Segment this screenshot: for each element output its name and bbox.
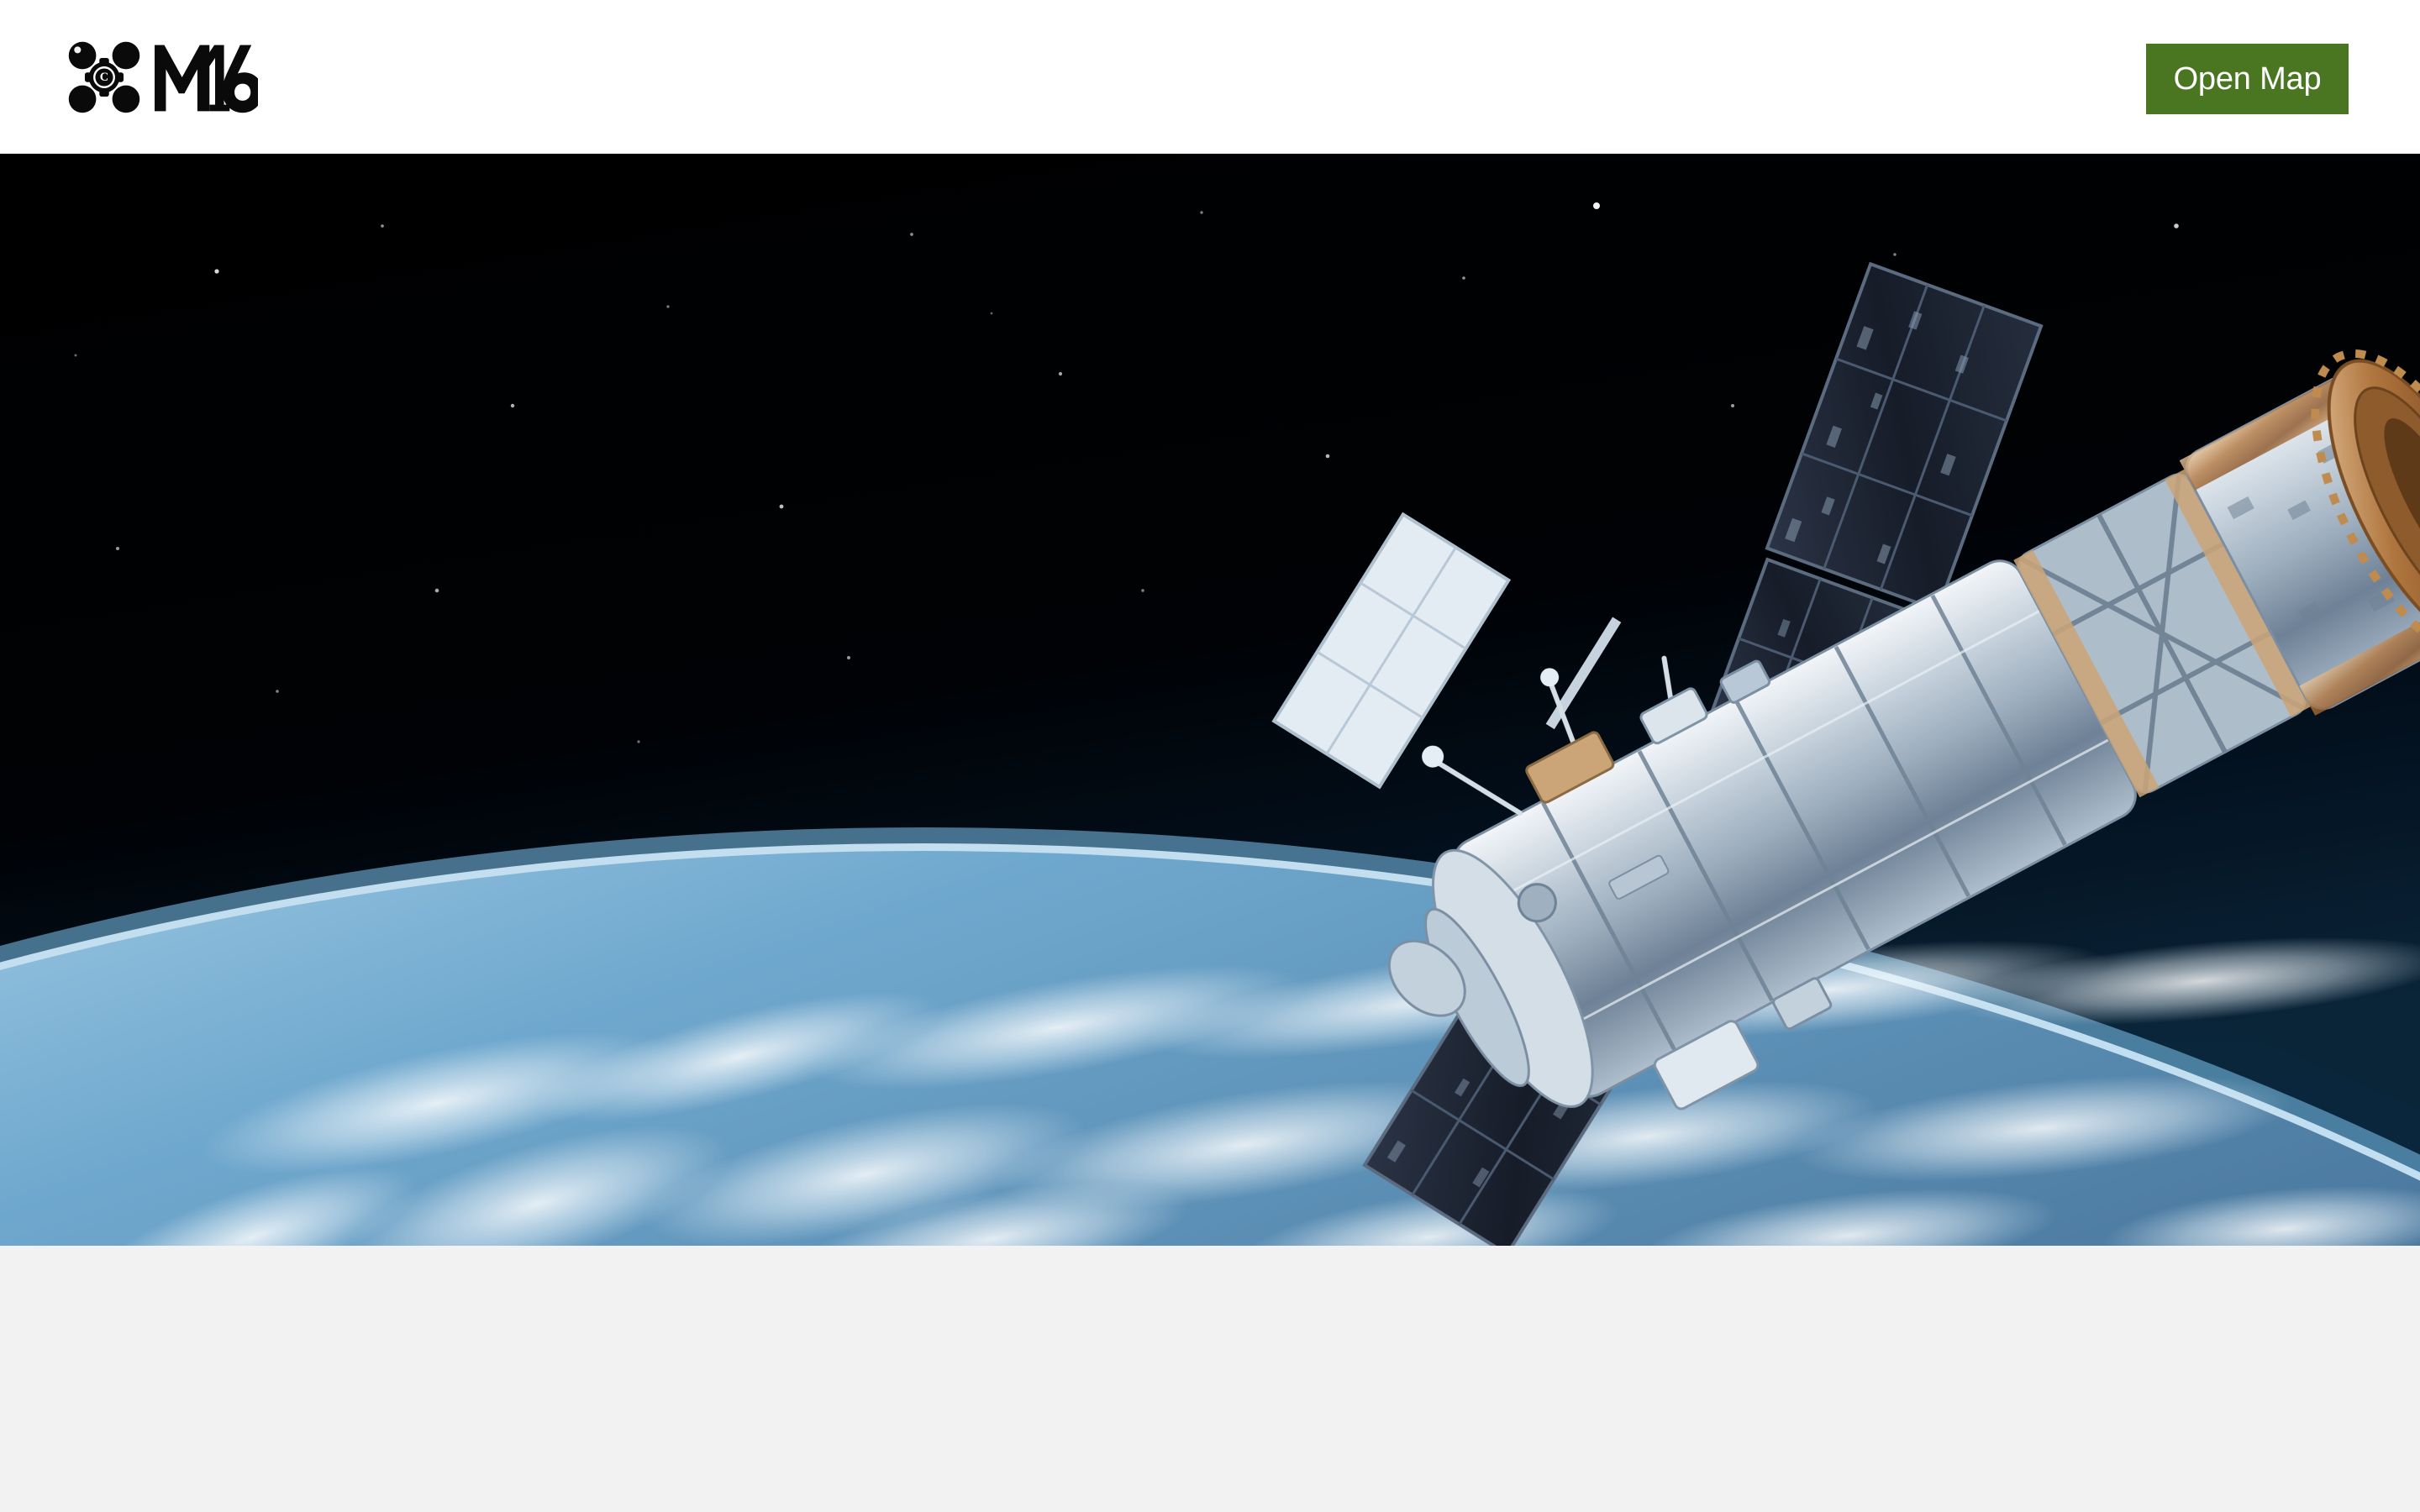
brand-logo-link[interactable]: C bbox=[64, 37, 258, 118]
stats-section: 25% $10 Billion 1 million bbox=[0, 1246, 2420, 1512]
molecule-icon: C bbox=[64, 37, 145, 118]
open-map-button[interactable]: Open Map bbox=[2146, 44, 2349, 114]
site-header: C Open Map bbox=[0, 0, 2420, 154]
hero-image-section bbox=[0, 154, 2420, 1246]
satellite-over-earth-photo bbox=[0, 154, 2420, 1246]
brand-wordmark bbox=[153, 37, 258, 118]
molecule-icon-center-letter: C bbox=[100, 71, 108, 84]
stats-row bbox=[0, 1246, 2420, 1512]
landing-page: C Open Map bbox=[0, 0, 2420, 1512]
